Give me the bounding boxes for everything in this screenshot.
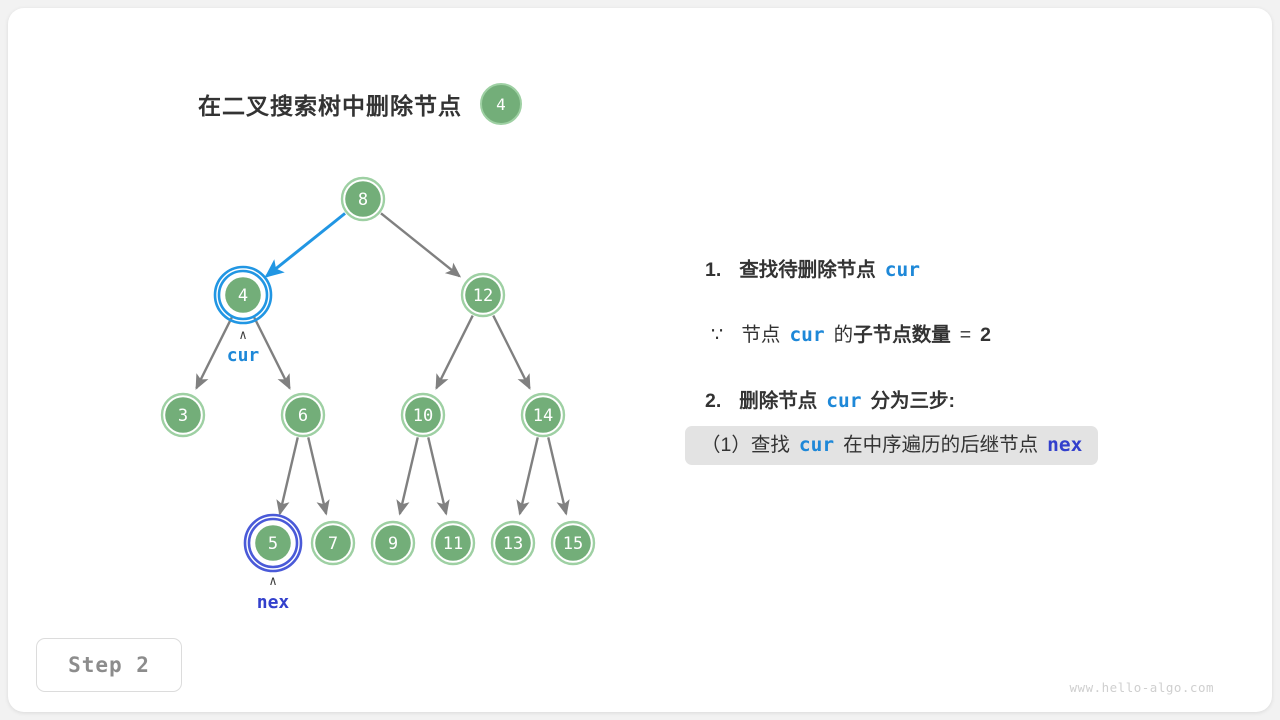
diagram-card: 在二叉搜索树中删除节点 4 8412361014579111315 ∧cur∧n…	[8, 8, 1272, 712]
node-value: 7	[328, 534, 338, 554]
step-1-text: 查找待删除节点	[739, 261, 876, 281]
tree-edge	[520, 437, 538, 513]
reason-text-c: 子节点数量	[853, 326, 951, 346]
node-value: 11	[443, 534, 463, 554]
node-value: 15	[563, 534, 583, 554]
tree-node-6[interactable]: 6	[282, 394, 324, 436]
tree-edge	[308, 437, 326, 513]
node-value: 14	[533, 406, 553, 426]
substep-1-number: （1）	[701, 436, 751, 456]
tree-edge	[428, 437, 446, 513]
step-1-code-cur: cur	[885, 260, 920, 280]
node-value: 5	[268, 534, 278, 554]
pointer-caret-icon: ∧	[239, 328, 247, 343]
explanation-reason: ∵ 节点 cur 的 子节点数量 = 2	[711, 325, 1225, 346]
step-2-text-b: 分为三步:	[871, 392, 956, 412]
explanation-panel: 1. 查找待删除节点 cur ∵ 节点 cur 的 子节点数量 = 2 2. 删…	[685, 244, 1225, 465]
tree-node-13[interactable]: 13	[492, 522, 534, 564]
reason-text-a: 节点	[741, 326, 780, 346]
substep-1-text-a: 查找	[751, 436, 790, 456]
tree-edge	[381, 213, 460, 276]
node-value: 4	[238, 286, 248, 306]
footer-url: www.hello-algo.com	[1070, 680, 1214, 695]
tree-node-4[interactable]: 4	[215, 267, 271, 323]
node-value: 10	[413, 406, 433, 426]
tree-edge	[266, 213, 345, 276]
tree-node-7[interactable]: 7	[312, 522, 354, 564]
substep-1-code-nex: nex	[1047, 435, 1082, 455]
tree-node-10[interactable]: 10	[402, 394, 444, 436]
pointer-caret-icon: ∧	[269, 574, 277, 589]
tree-node-15[interactable]: 15	[552, 522, 594, 564]
substep-1-text-b: 在中序遍历的后继节点	[843, 436, 1038, 456]
tree-node-14[interactable]: 14	[522, 394, 564, 436]
tree-node-5[interactable]: 5	[245, 515, 301, 571]
step-badge: Step 2	[36, 638, 182, 692]
reason-code-cur: cur	[789, 325, 824, 345]
tree-node-layer: 8412361014579111315	[162, 178, 594, 571]
tree-node-8[interactable]: 8	[342, 178, 384, 220]
tree-edge	[493, 316, 529, 389]
tree-edge	[548, 437, 566, 513]
node-value: 3	[178, 406, 188, 426]
tree-node-12[interactable]: 12	[462, 274, 504, 316]
tree-edge	[436, 316, 472, 389]
node-value: 6	[298, 406, 308, 426]
step-2-code-cur: cur	[826, 391, 861, 411]
pointer-label-cur: cur	[227, 345, 260, 366]
explanation-step-2: 2. 删除节点 cur 分为三步:	[705, 391, 1225, 412]
tree-node-9[interactable]: 9	[372, 522, 414, 564]
binary-search-tree: 8412361014579111315 ∧cur∧nex	[8, 8, 668, 712]
reason-child-count: 2	[980, 326, 991, 346]
pointer-label-nex: nex	[257, 592, 290, 613]
tree-edge	[280, 437, 298, 513]
tree-node-3[interactable]: 3	[162, 394, 204, 436]
node-value: 13	[503, 534, 523, 554]
tree-edge	[400, 437, 418, 513]
highlighted-substep: （1） 查找 cur 在中序遍历的后继节点 nex	[685, 426, 1098, 466]
step-1-number: 1.	[705, 261, 721, 281]
tree-node-11[interactable]: 11	[432, 522, 474, 564]
because-symbol: ∵	[711, 326, 723, 346]
reason-equals: =	[960, 326, 971, 346]
step-2-number: 2.	[705, 392, 721, 412]
substep-1-code-cur: cur	[799, 435, 834, 455]
node-value: 12	[473, 286, 493, 306]
reason-text-b: 的	[834, 326, 854, 346]
substep-1-line: （1） 查找 cur 在中序遍历的后继节点 nex	[701, 435, 1082, 456]
explanation-step-1: 1. 查找待删除节点 cur	[705, 260, 1225, 281]
node-value: 9	[388, 534, 398, 554]
step-2-text-a: 删除节点	[739, 392, 817, 412]
node-value: 8	[358, 190, 368, 210]
